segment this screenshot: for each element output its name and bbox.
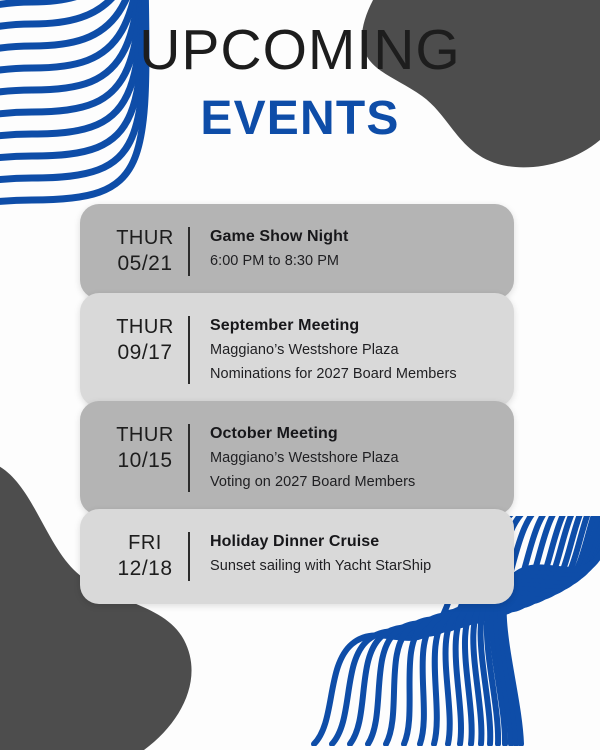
event-title: Game Show Night bbox=[210, 226, 500, 248]
event-date-block: FRI12/18 bbox=[80, 531, 188, 582]
title-line-upcoming: UPCOMING bbox=[0, 18, 600, 82]
event-title: October Meeting bbox=[210, 423, 500, 445]
event-card[interactable]: FRI12/18Holiday Dinner CruiseSunset sail… bbox=[80, 509, 514, 604]
event-date: 10/15 bbox=[102, 448, 188, 474]
event-detail-line: Maggiano’s Westshore Plaza bbox=[210, 340, 500, 361]
event-title: Holiday Dinner Cruise bbox=[210, 531, 500, 553]
event-card[interactable]: THUR05/21Game Show Night6:00 PM to 8:30 … bbox=[80, 204, 514, 299]
event-date: 05/21 bbox=[102, 251, 188, 277]
event-weekday: THUR bbox=[102, 226, 188, 251]
event-weekday: THUR bbox=[102, 423, 188, 448]
event-date-block: THUR10/15 bbox=[80, 423, 188, 474]
event-date-block: THUR09/17 bbox=[80, 315, 188, 366]
poster-canvas: UPCOMING EVENTS THUR05/21Game Show Night… bbox=[0, 0, 600, 750]
event-detail-line: Nominations for 2027 Board Members bbox=[210, 364, 500, 385]
events-list: THUR05/21Game Show Night6:00 PM to 8:30 … bbox=[80, 204, 514, 604]
event-weekday: FRI bbox=[102, 531, 188, 556]
event-date: 09/17 bbox=[102, 340, 188, 366]
event-body: Holiday Dinner CruiseSunset sailing with… bbox=[190, 531, 514, 577]
event-date-block: THUR05/21 bbox=[80, 226, 188, 277]
event-card[interactable]: THUR10/15October MeetingMaggiano’s Wests… bbox=[80, 401, 514, 515]
event-date: 12/18 bbox=[102, 556, 188, 582]
event-detail-line: Maggiano’s Westshore Plaza bbox=[210, 448, 500, 469]
title-line-events: EVENTS bbox=[0, 90, 600, 148]
event-detail-line: Voting on 2027 Board Members bbox=[210, 472, 500, 493]
event-body: September MeetingMaggiano’s Westshore Pl… bbox=[190, 315, 514, 385]
event-body: October MeetingMaggiano’s Westshore Plaz… bbox=[190, 423, 514, 493]
event-detail-line: Sunset sailing with Yacht StarShip bbox=[210, 556, 500, 577]
event-body: Game Show Night6:00 PM to 8:30 PM bbox=[190, 226, 514, 272]
page-title: UPCOMING EVENTS bbox=[0, 18, 600, 148]
event-detail-line: 6:00 PM to 8:30 PM bbox=[210, 251, 500, 272]
event-card[interactable]: THUR09/17September MeetingMaggiano’s Wes… bbox=[80, 293, 514, 407]
event-title: September Meeting bbox=[210, 315, 500, 337]
event-weekday: THUR bbox=[102, 315, 188, 340]
